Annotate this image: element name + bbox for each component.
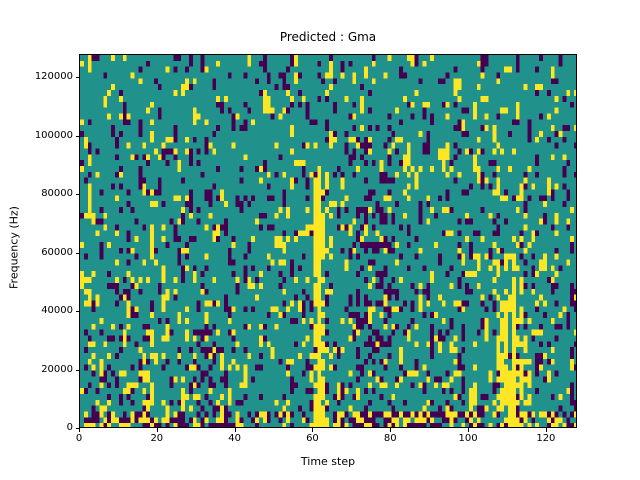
y-tick-mark: [76, 428, 80, 429]
x-tick-mark: [157, 428, 158, 432]
x-axis-label: Time step: [79, 455, 577, 468]
x-tick-label: 60: [306, 433, 319, 445]
y-tick-label: 100000: [1, 130, 73, 142]
x-tick-mark: [468, 428, 469, 432]
x-tick-label: 40: [228, 433, 241, 445]
y-axis-label: Frequency (Hz): [8, 188, 21, 308]
y-tick-mark: [76, 370, 80, 371]
x-tick-mark: [235, 428, 236, 432]
y-tick-mark: [76, 77, 80, 78]
x-tick-mark: [79, 428, 80, 432]
y-tick-mark: [76, 311, 80, 312]
x-tick-label: 0: [76, 433, 82, 445]
x-tick-mark: [390, 428, 391, 432]
x-tick-label: 80: [384, 433, 397, 445]
y-tick-mark: [76, 194, 80, 195]
heatmap-plot-area: [79, 54, 577, 428]
page-title: Predicted : Gma: [79, 30, 577, 45]
y-tick-mark: [76, 136, 80, 137]
y-tick-label: 0: [1, 422, 73, 434]
x-tick-label: 20: [150, 433, 163, 445]
x-tick-label: 100: [459, 433, 478, 445]
y-tick-label: 120000: [1, 71, 73, 83]
heatmap-image: [80, 55, 577, 428]
matplotlib-figure: Predicted : Gma 020406080100120 02000040…: [0, 0, 640, 480]
x-tick-mark: [546, 428, 547, 432]
x-tick-mark: [312, 428, 313, 432]
y-tick-mark: [76, 253, 80, 254]
y-tick-label: 20000: [1, 364, 73, 376]
x-tick-label: 120: [536, 433, 555, 445]
